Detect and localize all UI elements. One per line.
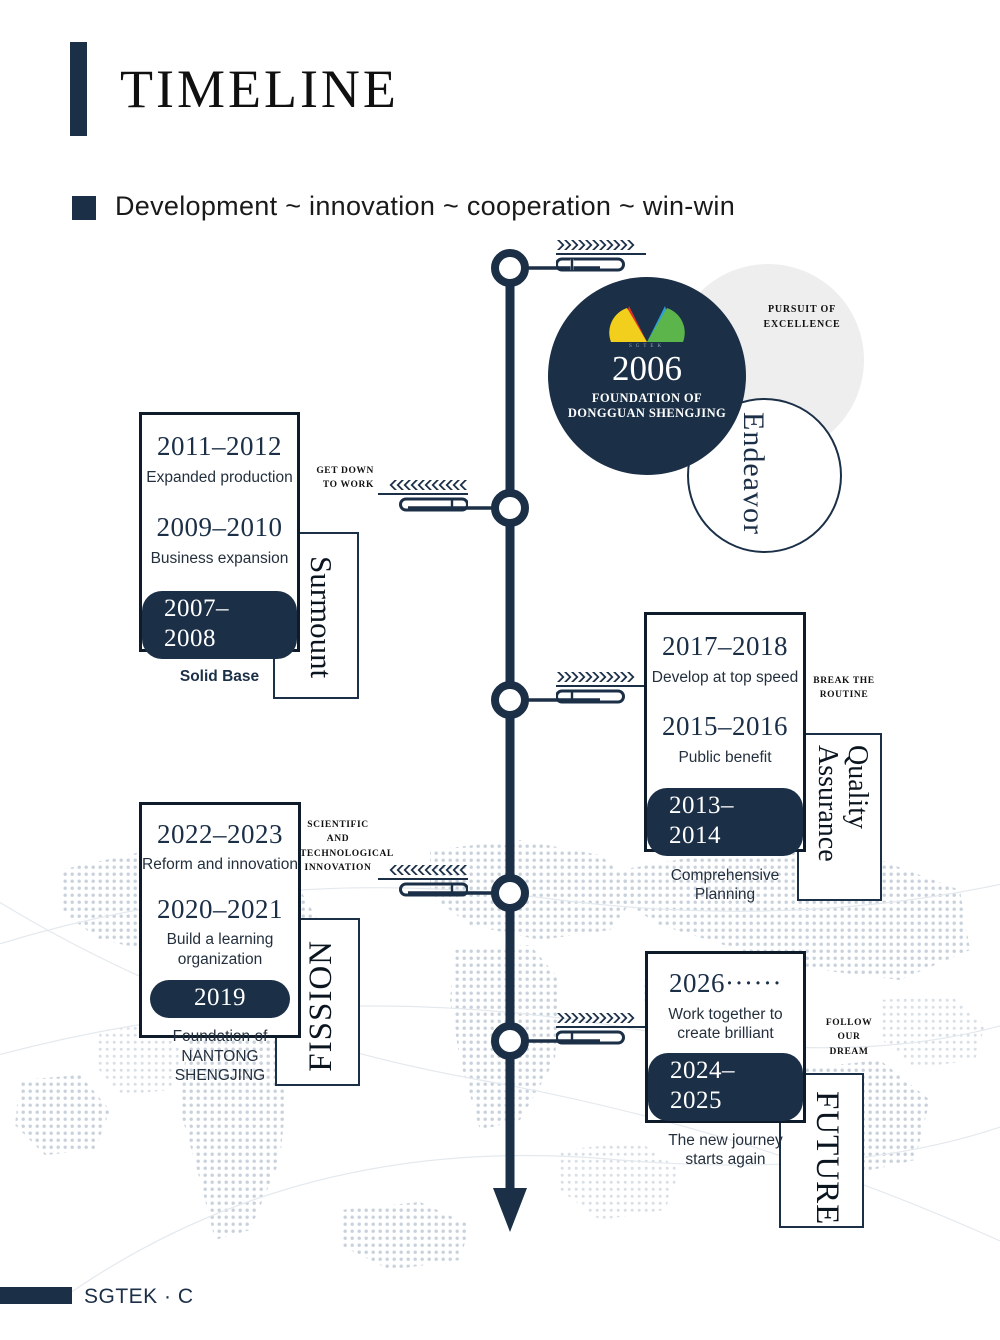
entry-desc: Expanded production <box>146 468 293 487</box>
caption-break-the-routine: BREAK THE ROUTINE <box>806 674 882 703</box>
entry-desc: The new journey <box>668 1131 783 1150</box>
card-quality-assurance[interactable]: 2017–2018 Develop at top speed 2015–2016… <box>644 612 806 852</box>
entry-desc: Business expansion <box>151 549 289 568</box>
caption-line-2: OUR <box>814 1030 884 1044</box>
keyword-assurance: Assurance <box>811 745 843 862</box>
page-title: TIMELINE <box>120 58 399 120</box>
caption-line-1: PURSUIT OF <box>752 303 852 318</box>
chevron-left-connector <box>372 863 468 899</box>
caption-line-2: TO WORK <box>308 478 374 492</box>
title-accent-bar <box>70 42 87 136</box>
entry-year: 2026······ <box>669 968 782 999</box>
caption-line-1: FOLLOW <box>814 1016 884 1030</box>
entry-year: 2020–2021 <box>157 894 283 925</box>
keyword-surmount: Surmount <box>303 556 339 678</box>
subtitle-accent-square <box>72 196 96 220</box>
caption-line-3: INNOVATION <box>300 861 376 875</box>
keyword-quality: Quality <box>841 745 873 829</box>
entry-year: 2011–2012 <box>157 431 282 462</box>
entry-desc: Reform and innovation <box>142 855 298 874</box>
page-subtitle: Development ~ innovation ~ cooperation ~… <box>115 191 735 222</box>
caption-scientific-technological-innovation: SCIENTIFIC AND TECHNOLOGICAL INNOVATION <box>300 818 376 875</box>
card-future[interactable]: 2026······ Work together to create brill… <box>645 951 806 1123</box>
caption-get-down-to-work: GET DOWN TO WORK <box>308 464 374 493</box>
caption-line-2: ROUTINE <box>806 688 882 702</box>
caption-line-1: BREAK THE <box>806 674 882 688</box>
caption-line-1: GET DOWN <box>308 464 374 478</box>
card-surmount[interactable]: 2011–2012 Expanded production 2009–2010 … <box>139 412 300 652</box>
entry-desc: starts again <box>685 1150 765 1169</box>
entry-year-pill: 2024–2025 <box>648 1053 803 1121</box>
origin-caption-line2: DONGGUAN SHENGJING <box>568 406 726 422</box>
caption-line-3: DREAM <box>814 1045 884 1059</box>
chevron-right-connector <box>556 238 652 274</box>
entry-desc: Solid Base <box>180 668 259 686</box>
keyword-future: FUTURE <box>808 1091 845 1225</box>
entry-year-pill: 2013–2014 <box>647 788 803 856</box>
entry-desc: NANTONG SHENGJING <box>142 1047 298 1086</box>
entry-desc: organization <box>178 950 262 969</box>
entry-year: 2022–2023 <box>157 819 283 850</box>
keyword-fission: FISSION <box>303 940 340 1072</box>
entry-year: 2015–2016 <box>662 711 788 742</box>
entry-desc: Develop at top speed <box>652 668 799 687</box>
caption-follow-our-dream: FOLLOW OUR DREAM <box>814 1016 884 1059</box>
caption-line-2: TECHNOLOGICAL <box>300 847 376 861</box>
entry-desc: Comprehensive Planning <box>647 866 803 905</box>
origin-caption-line1: FOUNDATION OF <box>568 391 726 407</box>
footer-brand: SGTEK · C <box>84 1285 194 1309</box>
keyword-endeavor: Endeavor <box>736 412 770 535</box>
chevron-right-connector <box>556 670 652 706</box>
origin-badge-2006[interactable]: SGTEK 2006 FOUNDATION OF DONGGUAN SHENGJ… <box>548 277 746 475</box>
entry-year: 2017–2018 <box>662 631 788 662</box>
entry-year: 2009–2010 <box>157 512 283 543</box>
footer-accent-bar <box>0 1287 72 1304</box>
chevron-right-connector <box>556 1011 652 1047</box>
chevron-left-connector <box>372 478 468 514</box>
pursuit-of-excellence-caption: PURSUIT OF EXCELLENCE <box>752 303 852 332</box>
origin-caption: FOUNDATION OF DONGGUAN SHENGJING <box>568 391 726 422</box>
entry-desc: Work together to <box>668 1005 782 1024</box>
sgtek-fan-logo <box>601 300 693 343</box>
caption-line-2: EXCELLENCE <box>752 318 852 333</box>
entry-year-pill: 2019 <box>150 980 290 1018</box>
entry-desc: Build a learning <box>167 930 274 949</box>
caption-line-1: SCIENTIFIC AND <box>300 818 376 847</box>
entry-desc: create brilliant <box>677 1024 774 1043</box>
card-fission[interactable]: 2022–2023 Reform and innovation 2020–202… <box>139 802 301 1038</box>
timeline-infographic: TIMELINE Development ~ innovation ~ coop… <box>0 0 1000 1340</box>
entry-desc: Foundation of <box>173 1027 268 1046</box>
entry-desc: Public benefit <box>678 748 771 767</box>
origin-year: 2006 <box>612 351 682 388</box>
entry-year-pill: 2007–2008 <box>142 591 297 659</box>
